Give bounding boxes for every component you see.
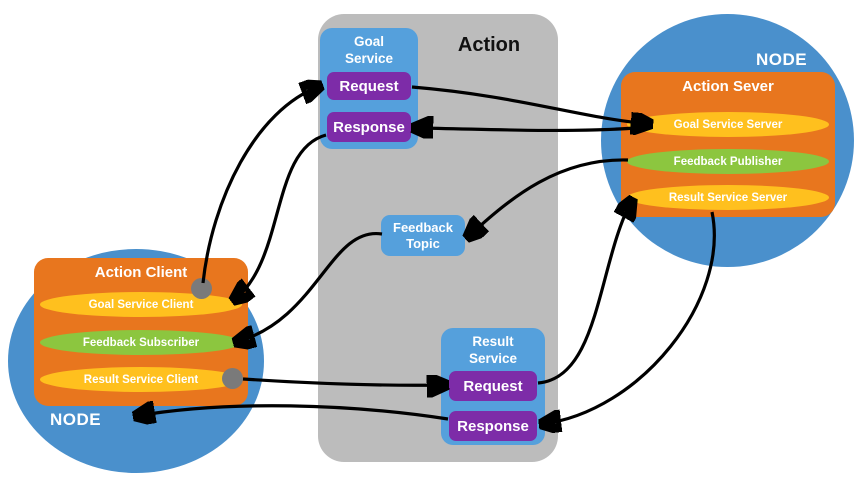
result-client-connector-dot bbox=[222, 368, 243, 389]
result-service-title-line1: Result bbox=[472, 334, 513, 349]
result-service-title: Result Service bbox=[441, 333, 545, 367]
feedback-topic-line2: Topic bbox=[406, 236, 440, 252]
goal-service-client-pill[interactable]: Goal Service Client bbox=[40, 292, 242, 317]
goal-service-title-line1: Goal bbox=[354, 34, 384, 49]
goal-response-box[interactable]: Response bbox=[327, 112, 411, 142]
action-server-title: Action Sever bbox=[621, 78, 835, 95]
goal-client-connector-dot bbox=[191, 278, 212, 299]
feedback-subscriber-pill[interactable]: Feedback Subscriber bbox=[40, 330, 242, 355]
goal-request-box[interactable]: Request bbox=[327, 72, 411, 100]
goal-service-title-line2: Service bbox=[345, 51, 393, 66]
result-service-client-pill[interactable]: Result Service Client bbox=[40, 367, 242, 392]
feedback-publisher-pill[interactable]: Feedback Publisher bbox=[627, 149, 829, 174]
feedback-topic-box[interactable]: Feedback Topic bbox=[381, 215, 465, 256]
goal-service-server-pill[interactable]: Goal Service Server bbox=[627, 112, 829, 137]
result-service-title-line2: Service bbox=[469, 351, 517, 366]
feedback-topic-line1: Feedback bbox=[393, 220, 453, 236]
result-response-box[interactable]: Response bbox=[449, 411, 537, 441]
diagram-canvas: Action NODE Action Sever Goal Service Se… bbox=[0, 0, 854, 480]
node-label-client: NODE bbox=[50, 410, 101, 430]
arrow-goal-client-to-request bbox=[203, 86, 320, 283]
goal-service-title: Goal Service bbox=[320, 33, 418, 67]
node-label-server: NODE bbox=[756, 50, 807, 70]
result-request-box[interactable]: Request bbox=[449, 371, 537, 401]
result-service-server-pill[interactable]: Result Service Server bbox=[627, 185, 829, 210]
action-panel-title: Action bbox=[434, 34, 544, 57]
action-client-title: Action Client bbox=[34, 264, 248, 281]
